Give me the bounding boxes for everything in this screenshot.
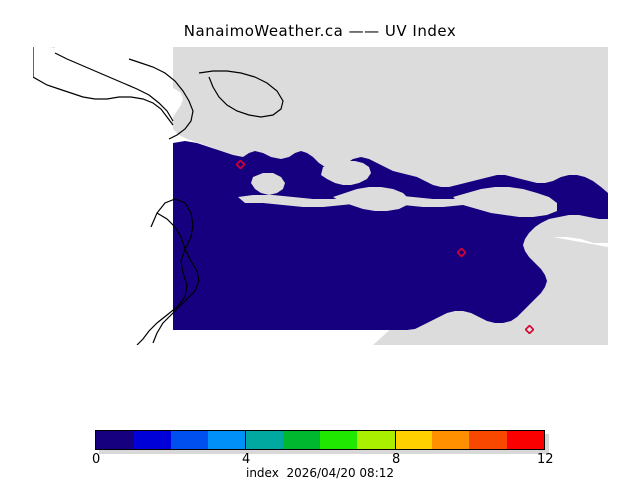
station-marker-1[interactable] [236,154,245,163]
map-graphic [33,47,608,345]
colorbar-caption: index 2026/04/20 08:12 [0,466,640,480]
colorbar-label-0: 0 [92,452,100,467]
colorbar-label-4: 4 [242,452,250,467]
colorbar-label-12: 12 [537,452,554,467]
colorbar-segment-10[interactable] [469,431,506,449]
colorbar-tick-4 [245,430,246,450]
colorbar-segment-8[interactable] [395,431,432,449]
station-marker-3[interactable] [525,319,534,328]
diamond-icon [236,160,245,169]
uv-index-map-page: NanaimoWeather.ca —— UV Index [0,0,640,480]
colorbar-tick-8 [395,430,396,450]
colorbar-segment-9[interactable] [432,431,469,449]
station-marker-2[interactable] [457,242,466,251]
colorbar-segment-11[interactable] [507,431,544,449]
colorbar-segment-6[interactable] [320,431,357,449]
nodata-water-layer [33,47,173,345]
colorbar-segment-5[interactable] [283,431,320,449]
colorbar-segment-1[interactable] [133,431,170,449]
page-title: NanaimoWeather.ca —— UV Index [0,22,640,40]
colorbar[interactable] [95,430,545,450]
diamond-icon [457,248,466,257]
map-plot-area[interactable] [33,47,608,345]
colorbar-segment-3[interactable] [208,431,245,449]
colorbar-label-8: 8 [392,452,400,467]
colorbar-segment-4[interactable] [245,431,282,449]
colorbar-segment-2[interactable] [171,431,208,449]
colorbar-segment-7[interactable] [357,431,394,449]
colorbar-segment-0[interactable] [96,431,133,449]
diamond-icon [525,325,534,334]
colorbar-segments[interactable] [95,430,545,450]
